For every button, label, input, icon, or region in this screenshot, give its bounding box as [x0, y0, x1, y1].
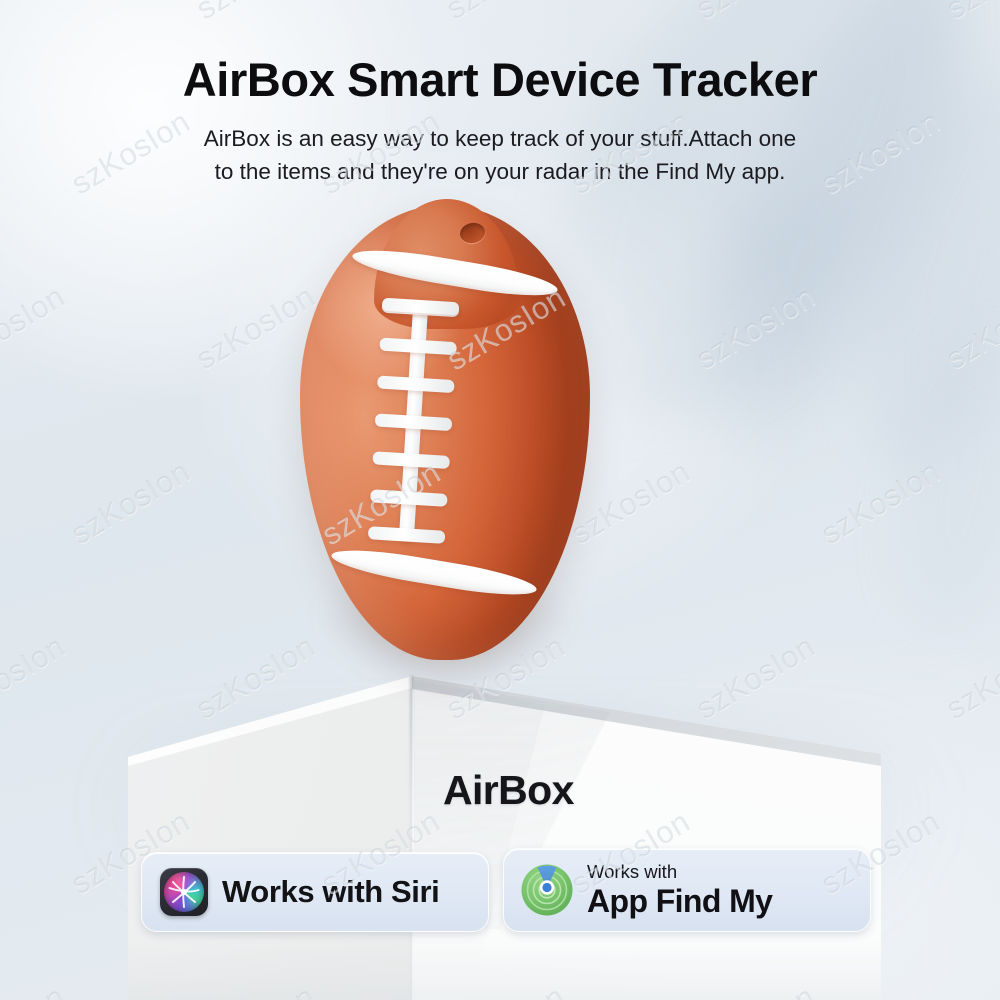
football-lace-bar	[375, 413, 453, 431]
badge-find-my-text: Works with App Find My	[587, 863, 772, 917]
badge-works-with-siri[interactable]: Works with Siri	[141, 852, 489, 932]
football-tracker	[300, 205, 590, 665]
football-lace-bar	[370, 489, 448, 507]
badge-siri-label: Works with Siri	[222, 874, 439, 910]
football-lace-bar	[379, 338, 457, 356]
football-lace-bar	[377, 375, 455, 393]
football-lace-bar	[368, 526, 446, 544]
badge-find-my-label-small: Works with	[587, 863, 772, 882]
football-lace-bar	[372, 451, 450, 469]
siri-icon	[160, 868, 208, 916]
badge-works-with-find-my[interactable]: Works with App Find My	[503, 848, 871, 932]
pedestal-bottom-vignette	[128, 940, 881, 1000]
siri-swirl-icon	[164, 872, 204, 912]
product-name-label: AirBox	[443, 767, 574, 814]
find-my-radar-icon	[520, 863, 574, 917]
badge-find-my-label-large: App Find My	[587, 885, 772, 917]
football-laces	[356, 297, 481, 548]
product-marketing-image: AirBox Smart Device Tracker AirBox is an…	[0, 0, 1000, 1000]
